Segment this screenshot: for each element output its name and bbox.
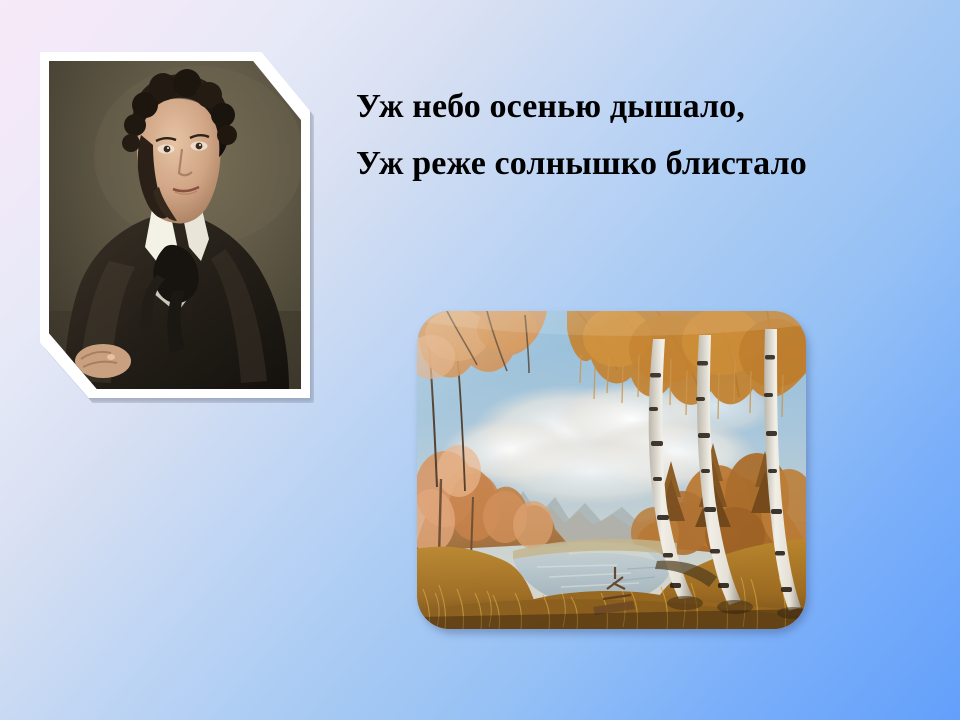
pushkin-portrait xyxy=(40,52,310,398)
landscape-image xyxy=(417,311,806,629)
portrait-image xyxy=(49,61,301,389)
autumn-landscape-painting xyxy=(417,311,806,629)
portrait-artwork xyxy=(49,61,301,389)
landscape-artwork xyxy=(417,311,806,629)
poem-text: Уж небо осенью дышало, Уж реже солнышко … xyxy=(356,78,936,192)
slide-canvas: Уж небо осенью дышало, Уж реже солнышко … xyxy=(0,0,960,720)
poem-line-2: Уж реже солнышко блистало xyxy=(356,135,936,192)
poem-line-1: Уж небо осенью дышало, xyxy=(356,78,936,135)
